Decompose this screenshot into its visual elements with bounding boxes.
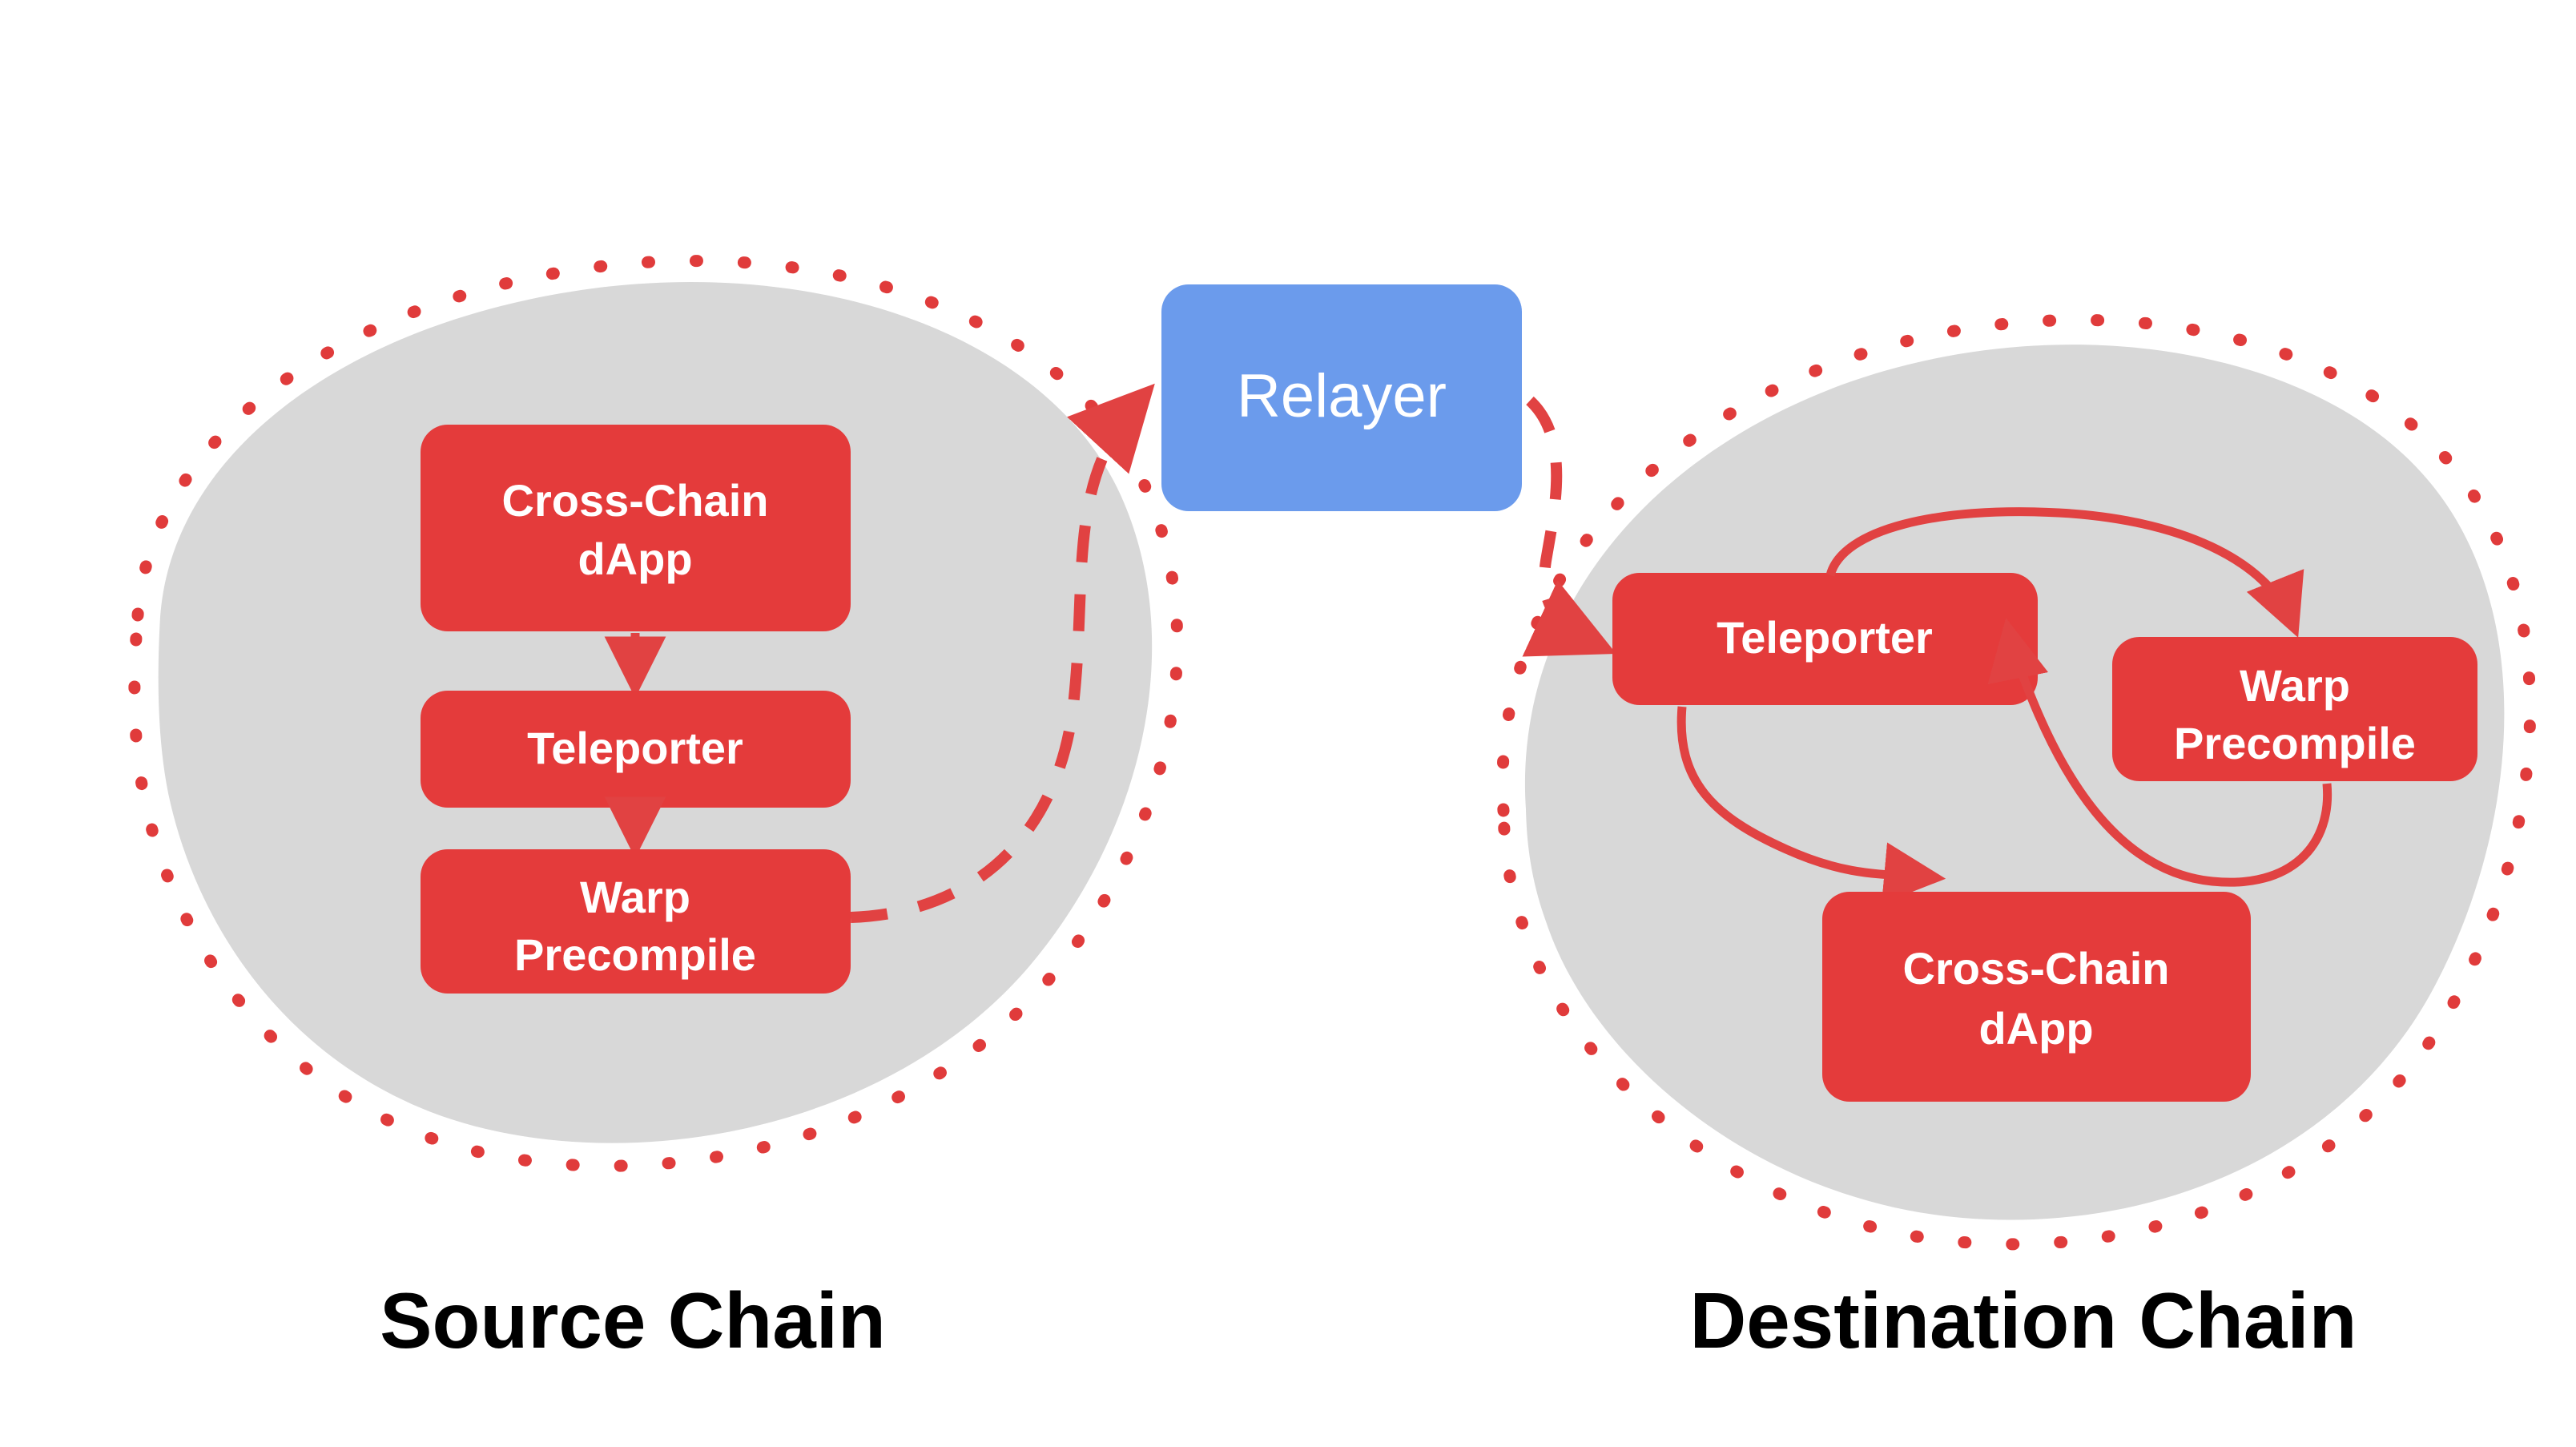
destination-teleporter-label: Teleporter [1717,612,1933,663]
source-node-cross-chain-dapp[interactable]: Cross-Chain dApp [421,425,851,631]
destination-dapp-label-line1: Cross-Chain [1903,943,2170,994]
source-chain-caption: Source Chain [380,1276,886,1364]
relayer-label: Relayer [1237,362,1447,430]
relayer-node[interactable]: Relayer [1161,284,1522,511]
destination-chain-caption: Destination Chain [1689,1276,2357,1364]
source-dapp-label-line2: dApp [578,534,692,584]
destination-node-cross-chain-dapp[interactable]: Cross-Chain dApp [1822,892,2251,1102]
diagram-canvas: Cross-Chain dApp Teleporter Warp Precomp… [0,0,2576,1447]
destination-node-warp-precompile[interactable]: Warp Precompile [2112,637,2477,781]
source-node-warp-precompile[interactable]: Warp Precompile [421,849,851,994]
source-dapp-label-line1: Cross-Chain [502,475,769,526]
destination-warp-label-line2: Precompile [2174,718,2416,768]
teleporter-architecture-diagram: Cross-Chain dApp Teleporter Warp Precomp… [0,0,2576,1447]
source-node-teleporter[interactable]: Teleporter [421,691,851,808]
destination-chain-group: Teleporter Warp Precompile Cross-Chain d… [1503,320,2530,1364]
source-warp-label-line2: Precompile [514,929,756,980]
source-warp-label-line1: Warp [580,872,690,922]
destination-warp-label-line1: Warp [2240,660,2350,711]
destination-node-teleporter[interactable]: Teleporter [1612,573,2038,705]
destination-dapp-label-line2: dApp [1978,1003,2093,1054]
source-chain-group: Cross-Chain dApp Teleporter Warp Precomp… [135,261,1177,1364]
source-teleporter-label: Teleporter [527,723,743,773]
